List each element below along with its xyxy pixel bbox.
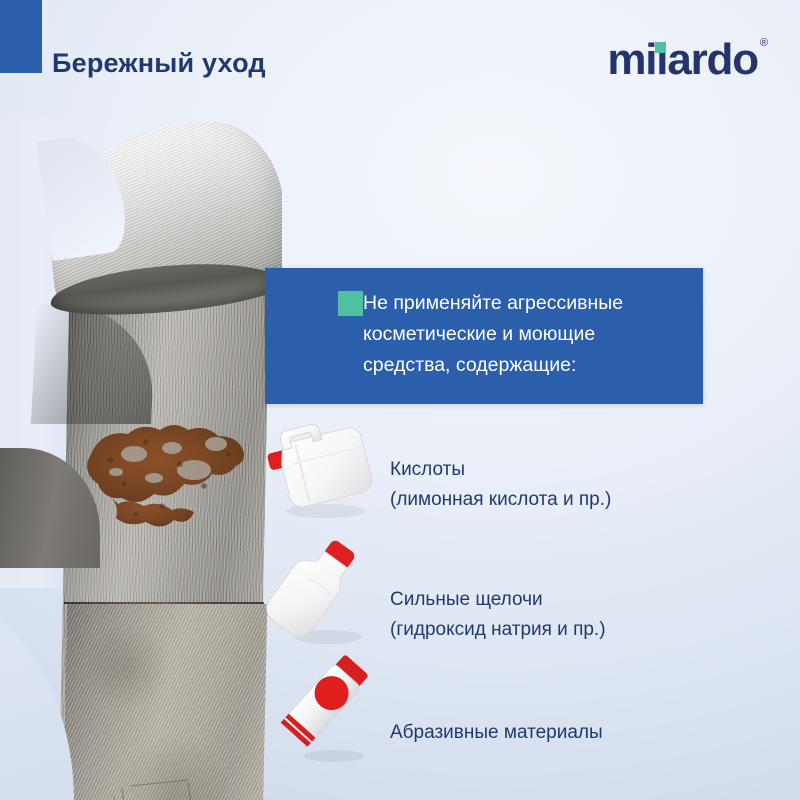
canister-icon xyxy=(262,405,382,523)
canister-icon-wrap xyxy=(262,405,382,523)
abrasive-tube-icon xyxy=(270,652,390,770)
scratch-marks-icon xyxy=(100,778,220,800)
abrasive-primary-label: Абразивные материалы xyxy=(390,718,603,748)
faucet-worn-section xyxy=(61,604,268,800)
corner-accent-block xyxy=(0,0,42,73)
acids-secondary-label: (лимонная кислота и пр.) xyxy=(390,485,611,515)
acids-primary-label: Кислоты xyxy=(390,455,611,485)
banner-line-1: Не применяйте агрессивные xyxy=(363,288,683,319)
warning-banner-text: Не применяйте агрессивные косметические … xyxy=(363,288,683,381)
logo-green-dot-icon xyxy=(655,42,666,53)
registered-mark-icon: ® xyxy=(760,37,768,49)
poster-root: Бережный уход milardo ® Не применяйте аг… xyxy=(0,0,800,800)
bottle-icon-wrap xyxy=(262,533,382,651)
logo-wordmark: milardo xyxy=(607,38,758,82)
warning-banner: Не применяйте агрессивные косметические … xyxy=(265,268,703,404)
faucet-seam-line xyxy=(64,602,264,604)
logo-text: milardo xyxy=(607,35,758,84)
abrasive-tube-icon-wrap xyxy=(270,652,390,770)
rust-corrosion-patch xyxy=(76,414,252,540)
abrasive-labels: Абразивные материалы xyxy=(390,718,603,748)
acids-labels: Кислоты (лимонная кислота и пр.) xyxy=(390,455,611,515)
alkali-labels: Сильные щелочи (гидроксид натрия и пр.) xyxy=(390,585,606,645)
banner-line-3: средства, содержащие: xyxy=(363,350,683,381)
alkali-primary-label: Сильные щелочи xyxy=(390,585,606,615)
page-title: Бережный уход xyxy=(52,48,266,79)
faucet-photo xyxy=(0,118,282,800)
bottle-icon xyxy=(262,533,382,651)
green-square-bullet-icon xyxy=(338,291,363,316)
brand-logo: milardo ® xyxy=(607,38,766,82)
banner-line-2: косметические и моющие xyxy=(363,319,683,350)
alkali-secondary-label: (гидроксид натрия и пр.) xyxy=(390,615,606,645)
